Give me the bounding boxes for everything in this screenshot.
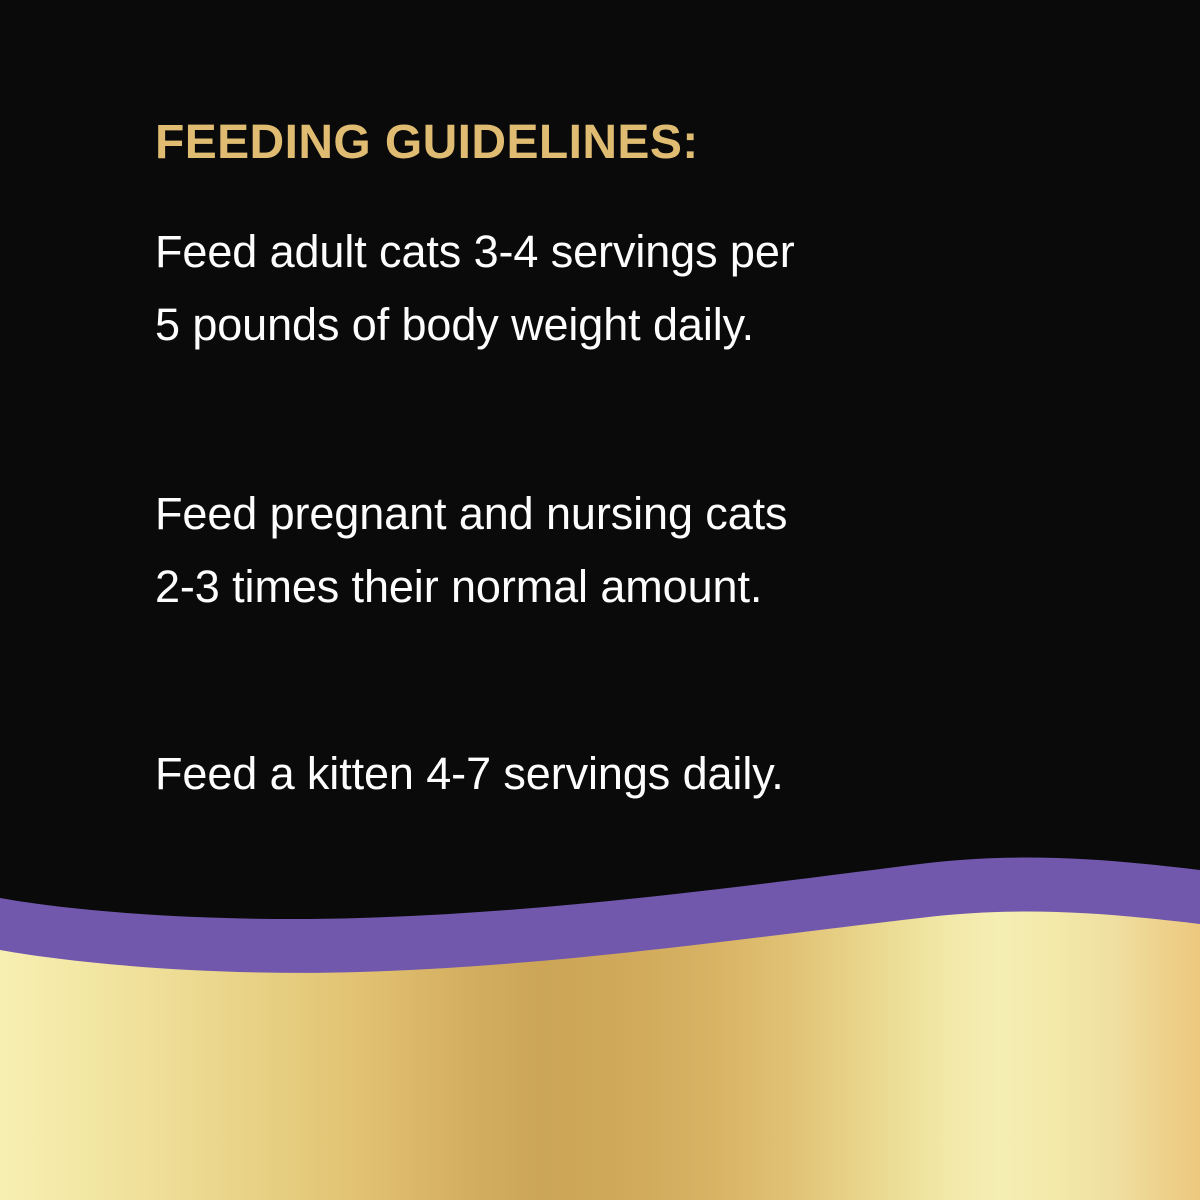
guideline-paragraph-kitten: Feed a kitten 4-7 servings daily. — [155, 738, 784, 811]
page-title: FEEDING GUIDELINES: — [155, 118, 699, 168]
bottom-wave-decoration — [0, 840, 1200, 1200]
wave-graphic — [0, 840, 1200, 1200]
guideline-line: Feed a kitten 4-7 servings daily. — [155, 738, 784, 811]
guideline-line: Feed adult cats 3-4 servings per — [155, 216, 795, 289]
gold-wave-band — [0, 912, 1200, 1200]
feeding-guidelines-panel: FEEDING GUIDELINES: Feed adult cats 3-4 … — [0, 0, 1200, 1200]
guideline-line: 2-3 times their normal amount. — [155, 551, 787, 624]
guideline-line: Feed pregnant and nursing cats — [155, 478, 787, 551]
guideline-line: 5 pounds of body weight daily. — [155, 289, 795, 362]
guideline-paragraph-adult-cats: Feed adult cats 3-4 servings per 5 pound… — [155, 216, 795, 362]
guideline-paragraph-pregnant-nursing-cats: Feed pregnant and nursing cats 2-3 times… — [155, 478, 787, 624]
purple-wave-band — [0, 858, 1200, 1200]
